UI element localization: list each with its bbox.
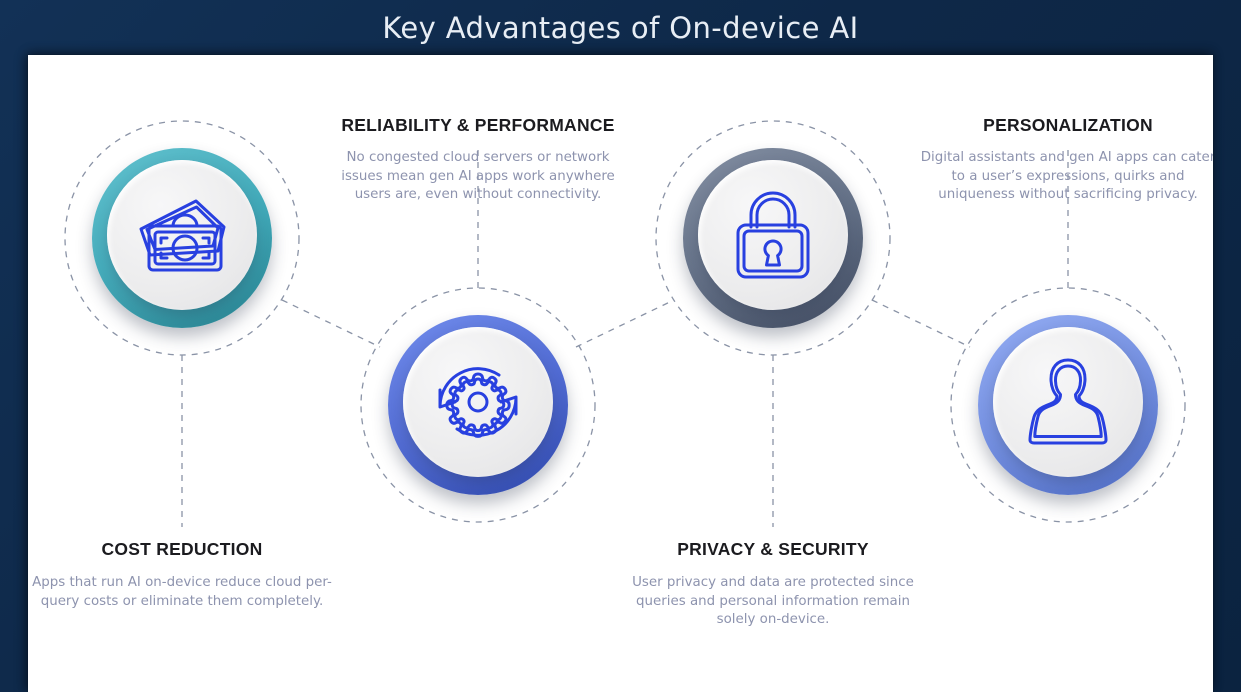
icon-disc-cost-reduction [107,160,257,310]
node-personalization[interactable] [950,287,1186,523]
user-person-icon [1025,354,1111,450]
caption-body: User privacy and data are protected sinc… [623,574,923,630]
page-title: Key Advantages of On-device AI [382,11,858,45]
node-reliability-performance[interactable] [360,287,596,523]
node-cost-reduction[interactable] [64,120,300,356]
caption-privacy-security: PRIVACY & SECURITY User privacy and data… [623,539,923,630]
caption-title: COST REDUCTION [32,539,332,560]
caption-body: No congested cloud servers or network is… [328,149,628,205]
icon-disc-personalization [993,327,1143,477]
gear-sync-icon [426,352,530,452]
icon-disc-reliability-performance [403,327,553,477]
caption-personalization: PERSONALIZATION Digital assistants and g… [918,115,1213,205]
page-header: Key Advantages of On-device AI [0,0,1241,55]
caption-title: PERSONALIZATION [918,115,1213,136]
node-privacy-security[interactable] [655,120,891,356]
infographic-board: COST REDUCTION Apps that run AI on-devic… [28,55,1213,692]
padlock-icon [730,187,816,283]
banknotes-icon [130,193,234,277]
caption-cost-reduction: COST REDUCTION Apps that run AI on-devic… [32,539,332,611]
caption-body: Apps that run AI on-device reduce cloud … [32,574,332,611]
caption-title: PRIVACY & SECURITY [623,539,923,560]
caption-reliability-performance: RELIABILITY & PERFORMANCE No congested c… [328,115,628,205]
caption-body: Digital assistants and gen AI apps can c… [918,149,1213,205]
icon-disc-privacy-security [698,160,848,310]
caption-title: RELIABILITY & PERFORMANCE [328,115,628,136]
